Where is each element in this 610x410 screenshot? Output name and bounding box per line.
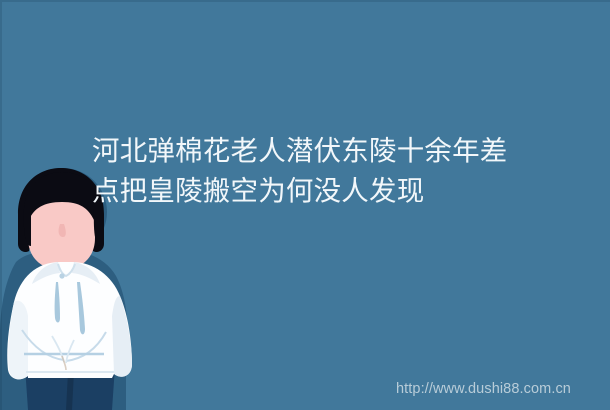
promo-banner: 河北弹棉花老人潜伏东陵十余年差 点把皇陵搬空为何没人发现 http://www.… <box>0 0 610 410</box>
source-url-watermark: http://www.dushi88.com.cn <box>396 381 571 397</box>
headline-title: 河北弹棉花老人潜伏东陵十余年差 点把皇陵搬空为何没人发现 <box>92 131 586 211</box>
